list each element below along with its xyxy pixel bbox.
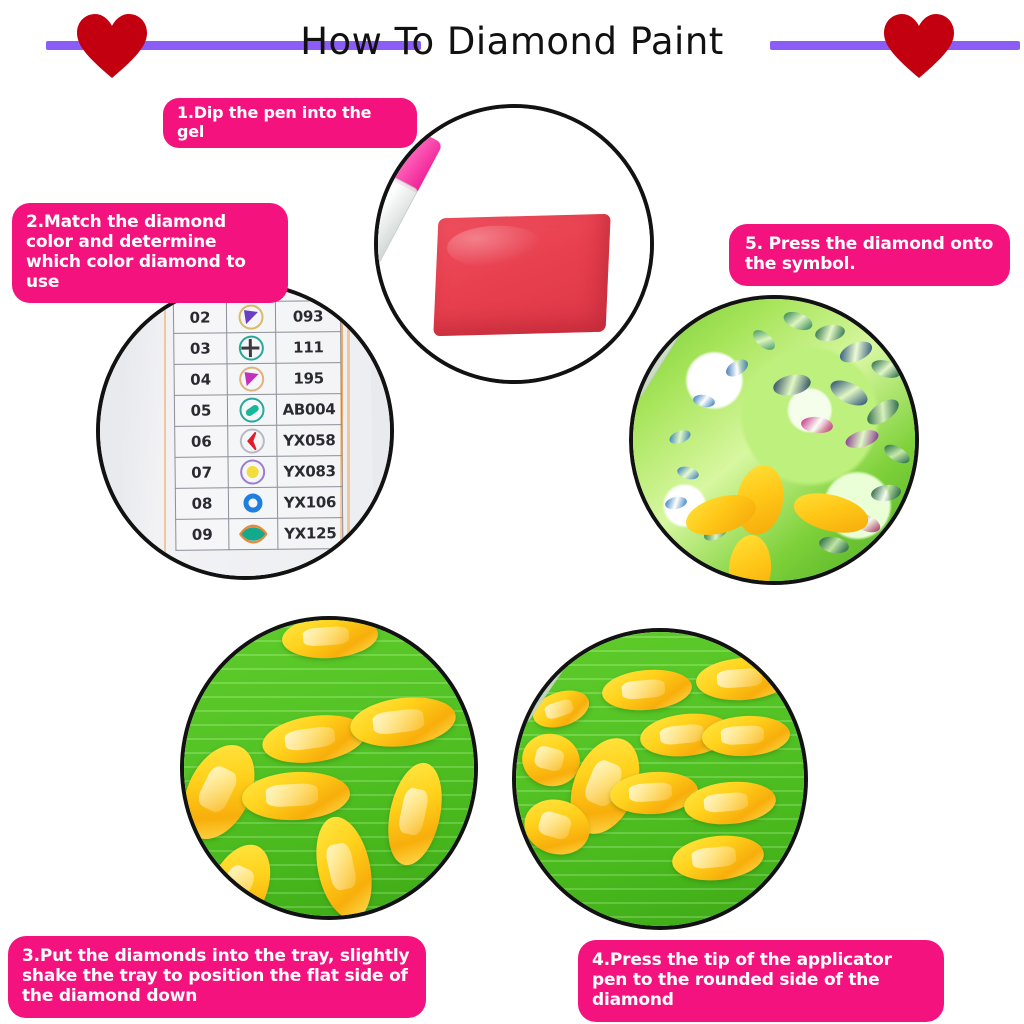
paper-edge-line — [347, 282, 350, 580]
plus-icon — [227, 332, 276, 364]
color-number-cell: 09 — [176, 519, 229, 551]
gel-dip-scene — [378, 108, 650, 380]
color-code-cell: 111 — [276, 332, 341, 364]
color-code-cell: YX106 — [277, 487, 342, 519]
color-number-cell: 04 — [174, 364, 227, 396]
table-row: 09YX125 — [176, 518, 343, 551]
color-code-cell: 195 — [276, 363, 341, 395]
table-row: 03111 — [174, 332, 341, 365]
step-4-label: 4.Press the tip of the applicator pen to… — [578, 940, 944, 1022]
infographic-canvas: How To Diamond Paint 0280209303111041950… — [0, 0, 1024, 1024]
chevron-left-icon — [228, 425, 277, 457]
color-code-cell: YX083 — [277, 456, 342, 488]
paper-edge-line — [164, 282, 166, 580]
table-row: 05AB004 — [174, 394, 341, 427]
step-4-photo — [512, 628, 808, 930]
step-2-photo: 02802093031110419505AB00406YX05807YX0830… — [96, 282, 394, 580]
step-1-label: 1.Dip the pen into the gel — [163, 98, 417, 148]
mandala-canvas-scene — [633, 299, 915, 581]
table-row: 08YX106 — [175, 487, 342, 520]
triangle-icon — [226, 301, 275, 333]
ring-icon — [228, 487, 277, 519]
step-3-photo — [180, 616, 478, 920]
page-title: How To Diamond Paint — [0, 20, 1024, 63]
pickup-diamond-scene — [516, 632, 804, 926]
color-number-cell: 05 — [174, 395, 227, 427]
header: How To Diamond Paint — [0, 0, 1024, 90]
diamond-tray-scene — [184, 620, 474, 916]
color-number-cell: 06 — [175, 426, 228, 458]
step-5-photo — [629, 295, 919, 585]
color-code-table: 02802093031110419505AB00406YX05807YX0830… — [173, 282, 344, 551]
color-code-cell: 093 — [275, 301, 340, 333]
color-code-cell: YX058 — [277, 425, 342, 457]
color-number-cell: 07 — [175, 457, 228, 489]
color-chart-scene: 02802093031110419505AB00406YX05807YX0830… — [100, 286, 390, 576]
dot-in-ring-icon — [228, 456, 277, 488]
step-2-label: 2.Match the diamond color and determine … — [12, 203, 288, 303]
step-1-photo — [374, 104, 654, 384]
table-row: 02093 — [173, 301, 340, 334]
gel-pad — [433, 214, 610, 336]
table-row: 07YX083 — [175, 456, 342, 489]
color-number-cell: 03 — [174, 333, 227, 365]
step-3-label: 3.Put the diamonds into the tray, slight… — [8, 936, 426, 1018]
step-5-label: 5. Press the diamond onto the symbol. — [729, 224, 1010, 286]
capsule-icon — [227, 394, 276, 426]
color-number-cell: 02 — [173, 302, 226, 334]
color-code-cell: AB004 — [276, 394, 341, 426]
leaf-icon — [229, 518, 278, 550]
color-code-cell: YX125 — [278, 518, 343, 550]
table-row: 04195 — [174, 363, 341, 396]
triangle-icon — [227, 363, 276, 395]
color-number-cell: 08 — [175, 488, 228, 520]
table-row: 06YX058 — [175, 425, 342, 458]
